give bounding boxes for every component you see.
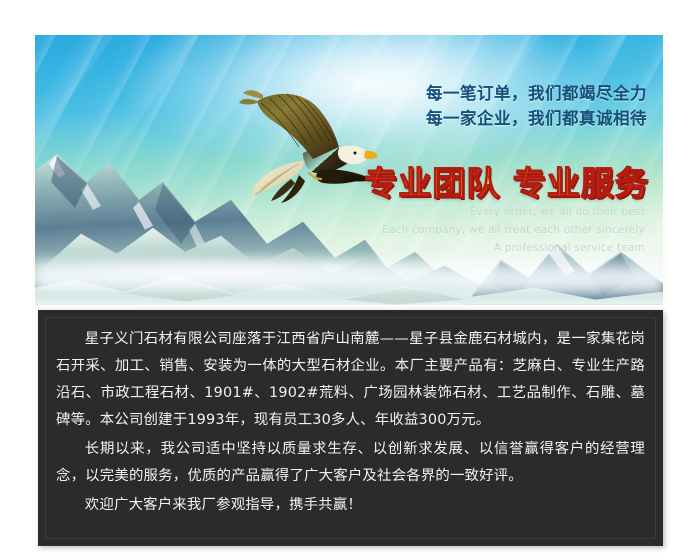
intro-paragraph-1: 星子义门石材有限公司座落于江西省庐山南麓——星子县金鹿石材城内，是一家集花岗石开… (56, 326, 645, 434)
intro-paragraph-2: 长期以来，我公司适中坚持以质量求生存、以创新求发展、以信誉赢得客户的经营理念，以… (56, 436, 645, 490)
slogan-line-2: 每一家企业，我们都真诚相待 (426, 106, 647, 131)
english-line-3: A professional service team (382, 239, 645, 257)
company-intro-panel: 星子义门石材有限公司座落于江西省庐山南麓——星子县金鹿石材城内，是一家集花岗石开… (38, 310, 663, 546)
company-intro-text: 星子义门石材有限公司座落于江西省庐山南麓——星子县金鹿石材城内，是一家集花岗石开… (56, 326, 645, 520)
banner-slogan: 每一笔订单，我们都竭尽全力 每一家企业，我们都真诚相待 (426, 81, 647, 131)
slogan-line-1: 每一笔订单，我们都竭尽全力 (426, 81, 647, 106)
promo-banner: 每一笔订单，我们都竭尽全力 每一家企业，我们都真诚相待 专业团队 专业服务 Ev… (35, 35, 663, 305)
english-line-2: Each company, we all treat each other si… (382, 221, 645, 239)
english-line-1: Every order, we all do their best (382, 203, 645, 221)
banner-english-tagline: Every order, we all do their best Each c… (382, 203, 645, 257)
intro-paragraph-3: 欢迎广大客户来我厂参观指导，携手共赢！ (56, 492, 645, 519)
banner-headline: 专业团队 专业服务 (365, 157, 650, 205)
mist-highlight (35, 258, 443, 283)
